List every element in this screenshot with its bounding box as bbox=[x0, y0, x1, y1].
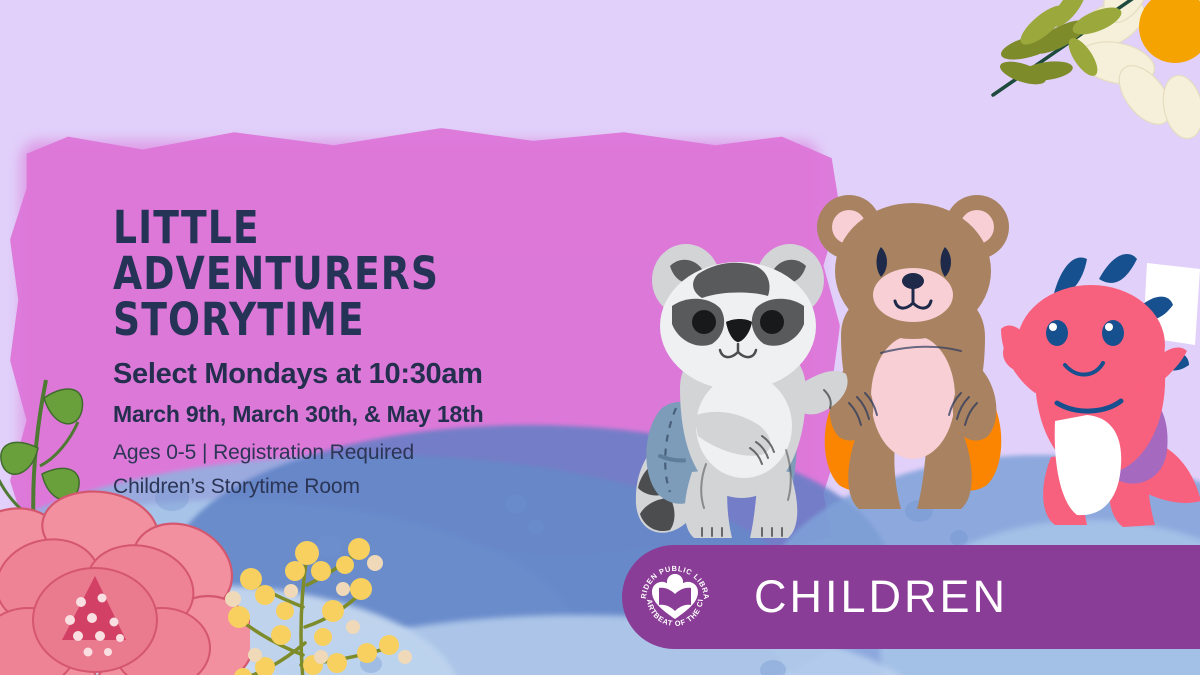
category-banner: MERIDEN PUBLIC LIBRARY HEARTBEAT OF THE … bbox=[622, 545, 1200, 649]
event-schedule-subtitle: Select Mondays at 10:30am bbox=[113, 357, 633, 391]
library-logo: MERIDEN PUBLIC LIBRARY HEARTBEAT OF THE … bbox=[636, 558, 714, 636]
raccoon-eye-right bbox=[760, 310, 784, 334]
leaf-sprig-top-right bbox=[985, 0, 1165, 110]
character-dinosaur bbox=[995, 225, 1200, 535]
dino-eye-right bbox=[1102, 320, 1124, 346]
dino-eye-left bbox=[1046, 320, 1068, 346]
event-poster: LITTLE ADVENTURERS STORYTIME Select Mond… bbox=[0, 0, 1200, 675]
event-text-block: LITTLE ADVENTURERS STORYTIME Select Mond… bbox=[113, 205, 633, 506]
event-location: Children’s Storytime Room bbox=[113, 472, 633, 502]
yellow-sprigs-bottom-left bbox=[195, 515, 435, 675]
category-label: CHILDREN bbox=[754, 571, 1008, 623]
page-title: LITTLE ADVENTURERS STORYTIME bbox=[113, 205, 597, 343]
raccoon-eye-left bbox=[692, 310, 716, 334]
event-ages-registration: Ages 0-5 | Registration Required bbox=[113, 438, 633, 468]
event-dates: March 9th, March 30th, & May 18th bbox=[113, 399, 633, 429]
character-raccoon bbox=[628, 240, 858, 540]
